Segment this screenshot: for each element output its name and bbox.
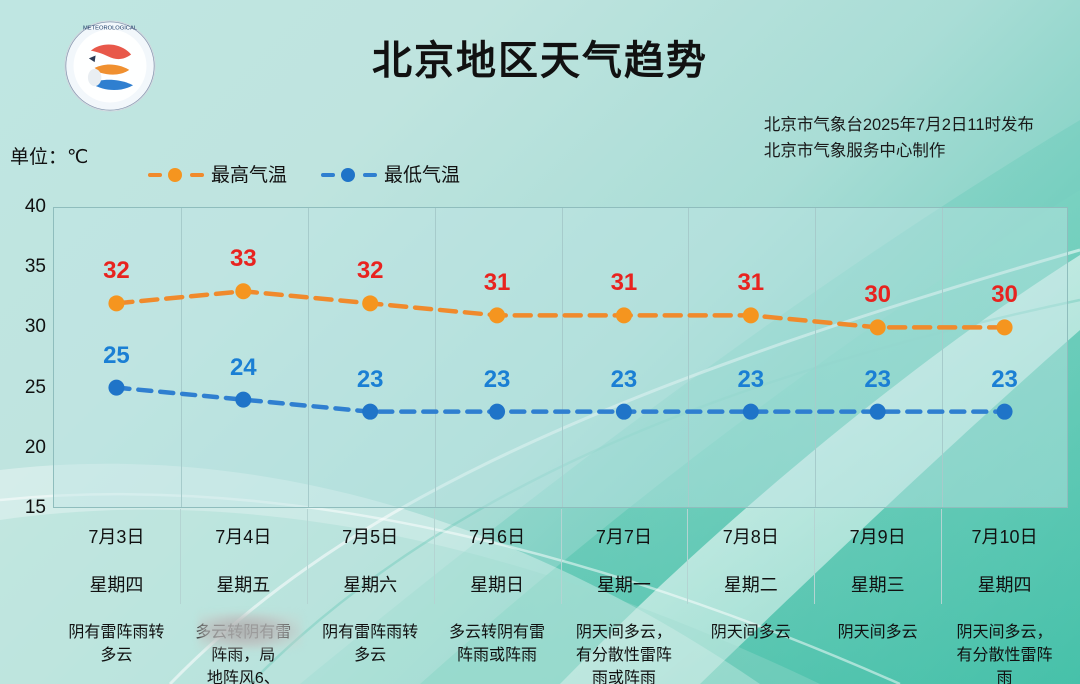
legend-marker-low-icon [321, 167, 377, 181]
x-weekday-1: 星期五 [180, 571, 307, 597]
x-weekday-7: 星期四 [941, 571, 1068, 597]
grid-line-v-2 [308, 208, 309, 507]
x-weekday-2: 星期六 [307, 571, 434, 597]
weather-description-1: 多云转阴有雷阵雨，局地阵风6、 [180, 621, 307, 684]
issue-info: 北京市气象台2025年7月2日11时发布 北京市气象服务中心制作 [764, 112, 1034, 164]
legend-label-high: 最高气温 [211, 160, 287, 187]
legend-item-high: 最高气温 [148, 160, 287, 187]
unit-label: 单位：℃ [10, 142, 88, 169]
weather-description-5: 阴天间多云 [687, 621, 814, 644]
grid-line-v-7 [942, 208, 943, 507]
x-date-1: 7月4日 [180, 523, 307, 549]
x-weekday-6: 星期三 [814, 571, 941, 597]
x-date-0: 7月3日 [53, 523, 180, 549]
legend-marker-high-icon [148, 167, 204, 181]
x-axis-column-0: 7月3日星期四阴有雷阵雨转多云 [53, 509, 180, 684]
x-date-4: 7月7日 [561, 523, 688, 549]
y-tick-40: 40 [25, 196, 46, 218]
chart-plot-area [53, 207, 1068, 508]
weather-description-7: 阴天间多云，有分散性雷阵雨 [941, 621, 1068, 684]
x-axis-column-2: 7月5日星期六阴有雷阵雨转多云 [307, 509, 434, 684]
y-tick-30: 30 [25, 316, 46, 338]
issue-line-2: 北京市气象服务中心制作 [764, 138, 1034, 164]
grid-line-v-6 [815, 208, 816, 507]
weather-description-4: 阴天间多云，有分散性雷阵雨或阵雨 [561, 621, 688, 684]
y-tick-35: 35 [25, 256, 46, 278]
y-tick-15: 15 [25, 497, 46, 519]
grid-line-v-1 [181, 208, 182, 507]
legend-item-low: 最低气温 [321, 160, 460, 187]
x-weekday-3: 星期日 [434, 571, 561, 597]
legend-label-low: 最低气温 [384, 160, 460, 187]
x-weekday-5: 星期二 [687, 571, 814, 597]
x-axis-column-6: 7月9日星期三阴天间多云 [814, 509, 941, 684]
weather-description-0: 阴有雷阵雨转多云 [53, 621, 180, 667]
grid-line-v-3 [435, 208, 436, 507]
grid-line-v-4 [562, 208, 563, 507]
issue-line-1: 北京市气象台2025年7月2日11时发布 [764, 112, 1034, 138]
weather-description-3: 多云转阴有雷阵雨或阵雨 [434, 621, 561, 667]
x-date-7: 7月10日 [941, 523, 1068, 549]
weather-description-2: 阴有雷阵雨转多云 [307, 621, 434, 667]
y-tick-20: 20 [25, 437, 46, 459]
x-weekday-4: 星期一 [561, 571, 688, 597]
x-date-3: 7月6日 [434, 523, 561, 549]
page-title: 北京地区天气趋势 [0, 28, 1080, 86]
x-axis-column-5: 7月8日星期二阴天间多云 [687, 509, 814, 684]
x-axis-column-3: 7月6日星期日多云转阴有雷阵雨或阵雨 [434, 509, 561, 684]
x-axis: 7月3日星期四阴有雷阵雨转多云7月4日星期五多云转阴有雷阵雨，局地阵风6、7月5… [53, 509, 1068, 684]
y-tick-25: 25 [25, 377, 46, 399]
x-date-5: 7月8日 [687, 523, 814, 549]
y-axis-labels: 403530252015 [0, 207, 46, 508]
chart-legend: 最高气温 最低气温 [148, 160, 460, 187]
grid-line-v-5 [688, 208, 689, 507]
x-date-6: 7月9日 [814, 523, 941, 549]
x-weekday-0: 星期四 [53, 571, 180, 597]
weather-description-6: 阴天间多云 [814, 621, 941, 644]
x-date-2: 7月5日 [307, 523, 434, 549]
x-axis-column-7: 7月10日星期四阴天间多云，有分散性雷阵雨 [941, 509, 1068, 684]
x-axis-column-4: 7月7日星期一阴天间多云，有分散性雷阵雨或阵雨 [561, 509, 688, 684]
x-axis-column-1: 7月4日星期五多云转阴有雷阵雨，局地阵风6、 [180, 509, 307, 684]
